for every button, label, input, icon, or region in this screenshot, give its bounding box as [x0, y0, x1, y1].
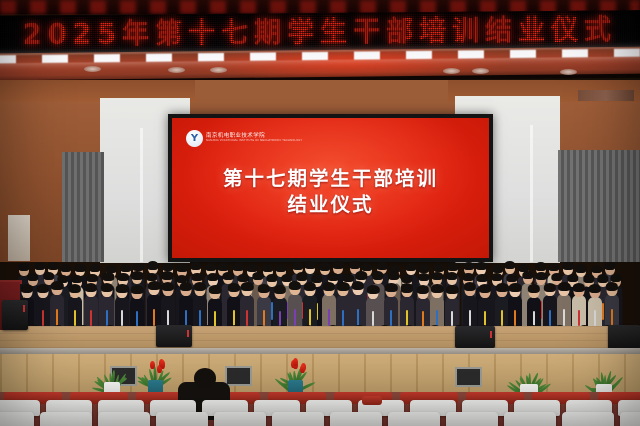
wall-vent-sign: [578, 90, 634, 101]
audience-chair[interactable]: [0, 412, 34, 426]
seated-audience-head: [194, 368, 216, 388]
person-hair: [417, 285, 429, 294]
person-hair: [543, 283, 555, 292]
person-hair: [60, 264, 71, 272]
audience-chair[interactable]: [156, 412, 208, 426]
led-banner-text: 2025年第十七期学生干部培训结业仪式: [23, 15, 617, 49]
person-hair: [551, 273, 562, 281]
person-hair: [558, 282, 570, 291]
lanyard-badge: [56, 309, 58, 326]
person-hair: [273, 285, 285, 294]
person-hair: [492, 264, 503, 272]
person-hair: [281, 274, 292, 282]
person-hair: [509, 283, 521, 292]
lanyard-badge: [263, 310, 265, 326]
person-hair: [349, 261, 360, 269]
stage-monitor-speaker: [608, 325, 640, 349]
person-hair: [146, 273, 157, 281]
person-hair: [75, 264, 86, 272]
screen-title-line2: 结业仪式: [172, 192, 489, 218]
lanyard-badge: [279, 311, 281, 327]
person-hair: [209, 285, 221, 294]
person-hair: [328, 273, 339, 281]
person-hair: [575, 264, 586, 272]
person-hair: [69, 284, 81, 293]
lanyard-badge: [451, 311, 453, 327]
person-hair: [147, 261, 158, 269]
audience-chair[interactable]: [620, 412, 640, 426]
audience-chair[interactable]: [562, 412, 614, 426]
person-hair: [305, 261, 316, 269]
person-hair: [604, 262, 615, 270]
lanyard-badge: [328, 309, 330, 326]
person-hair: [418, 264, 429, 272]
person-hair: [116, 284, 128, 293]
person-hair: [289, 281, 301, 290]
person-hair: [504, 261, 515, 269]
downlight-icon: [168, 67, 185, 73]
logo-institution-cn: 南京机电职业技术学院: [206, 134, 302, 140]
lanyard-badge: [422, 311, 424, 327]
person-hair: [190, 262, 201, 270]
person-hair: [86, 274, 97, 282]
audience-chair[interactable]: [504, 412, 556, 426]
person-hair: [34, 262, 45, 270]
person-hair: [205, 263, 216, 271]
person-hair: [232, 263, 243, 271]
person-hair: [132, 271, 143, 279]
red-flower: [160, 360, 165, 368]
person-hair: [475, 262, 486, 270]
person-hair: [491, 273, 502, 281]
lanyard-badge: [199, 310, 201, 326]
person-hair: [400, 283, 412, 292]
person-hair: [361, 263, 372, 271]
person-hair: [548, 263, 559, 271]
lanyard-badge: [602, 303, 604, 320]
lanyard-badge: [106, 310, 108, 326]
person-hair: [447, 262, 458, 270]
person-hair: [536, 272, 547, 280]
person-hair: [275, 264, 286, 272]
lanyard-badge: [136, 311, 138, 327]
person-hair: [418, 273, 429, 281]
person-hair: [431, 284, 443, 293]
person-hair: [431, 272, 442, 280]
person-hair: [405, 263, 416, 271]
person-hair: [51, 281, 63, 290]
institution-logo: Y 南京机电职业技术学院 NANJING VOCATIONAL INSTITUT…: [186, 130, 302, 147]
downlight-icon: [210, 67, 227, 73]
lanyard-badge: [372, 311, 374, 327]
person-hair: [177, 264, 188, 272]
person-hair: [89, 264, 100, 272]
lanyard-badge: [121, 310, 123, 326]
person-hair: [162, 282, 174, 291]
person-hair: [446, 272, 457, 280]
person-hair: [148, 281, 160, 290]
red-item-on-chair: [362, 396, 382, 405]
person-hair: [388, 271, 399, 279]
person-hair: [377, 262, 388, 270]
stage-front-vent: [225, 366, 252, 386]
red-flower: [293, 358, 298, 366]
person-hair: [372, 271, 383, 279]
person-hair: [131, 285, 143, 294]
stage-monitor-speaker: [2, 300, 28, 330]
lanyard-badge: [390, 310, 392, 326]
logo-mark-letter: Y: [191, 134, 198, 144]
person-hair: [522, 271, 533, 279]
downlight-icon: [84, 66, 101, 72]
person-hair: [352, 281, 364, 290]
person-hair: [103, 272, 114, 280]
person-hair: [463, 262, 474, 270]
audience-chair[interactable]: [388, 412, 440, 426]
person-hair: [85, 283, 97, 292]
person-hair: [27, 273, 38, 281]
logo-mark-icon: Y: [186, 130, 203, 147]
lanyard-badge: [436, 310, 438, 326]
person-hair: [194, 282, 206, 291]
stage-monitor-speaker: [156, 325, 192, 347]
lanyard-badge: [594, 310, 596, 326]
person-hair: [71, 275, 82, 283]
person-hair: [43, 272, 54, 280]
person-hair: [463, 273, 474, 281]
person-hair: [100, 283, 112, 292]
lanyard-badge: [549, 310, 551, 326]
lanyard-badge: [153, 309, 155, 326]
lanyard-badge: [90, 310, 92, 326]
monitor-led-icon: [490, 331, 492, 338]
audience-chair[interactable]: [330, 412, 382, 426]
red-flower: [150, 361, 155, 369]
person-hair: [238, 274, 249, 282]
person-hair: [133, 263, 144, 271]
person-hair: [401, 275, 412, 283]
audience-chair[interactable]: [40, 412, 92, 426]
auditorium-photo: 2025年第十七期学生干部培训结业仪式 Y 南京机电职业技术学院 NANJING…: [0, 0, 640, 426]
person-hair: [446, 285, 458, 294]
lanyard-badge: [309, 309, 311, 326]
person-hair: [356, 271, 367, 279]
person-hair: [597, 274, 608, 282]
person-hair: [292, 262, 303, 270]
lanyard-badge: [357, 309, 359, 326]
person-hair: [262, 264, 273, 272]
logo-wordmark: 南京机电职业技术学院 NANJING VOCATIONAL INSTITUTE …: [206, 134, 302, 143]
downlight-icon: [560, 69, 577, 75]
person-hair: [179, 282, 191, 291]
person-hair: [563, 262, 574, 270]
person-hair: [591, 265, 602, 273]
person-hair: [162, 271, 173, 279]
downlight-icon: [443, 68, 460, 74]
audience-chair[interactable]: [446, 412, 498, 426]
lanyard-badge: [514, 310, 516, 326]
person-hair: [252, 272, 263, 280]
lanyard-badge: [246, 310, 248, 326]
person-hair: [506, 274, 517, 282]
person-hair: [311, 274, 322, 282]
person-hair: [304, 282, 316, 291]
lanyard-badge: [74, 310, 76, 326]
person-hair: [342, 274, 353, 282]
person-hair: [535, 262, 546, 270]
screen-title-block: 第十七期学生干部培训 结业仪式: [172, 166, 489, 219]
person-hair: [296, 272, 307, 280]
lanyard-badge: [501, 310, 503, 326]
monitor-led-icon: [23, 305, 25, 312]
person-hair: [227, 283, 239, 292]
person-hair: [18, 263, 29, 271]
person-hair: [567, 274, 578, 282]
person-hair: [496, 283, 508, 292]
person-hair: [36, 284, 48, 293]
person-hair: [192, 273, 203, 281]
person-hair: [266, 274, 277, 282]
person-hair: [478, 284, 490, 293]
person-hair: [464, 282, 476, 291]
lanyard-badge: [578, 310, 580, 326]
person-hair: [385, 283, 397, 292]
person-hair: [573, 283, 585, 292]
audience-chair[interactable]: [98, 412, 150, 426]
person-hair: [332, 261, 343, 269]
person-hair: [118, 273, 129, 281]
person-hair: [588, 284, 600, 293]
audience-chair[interactable]: [214, 412, 266, 426]
red-flower: [300, 365, 305, 373]
person-hair: [241, 282, 253, 291]
monitor-led-icon: [187, 330, 189, 337]
person-hair: [583, 274, 594, 282]
person-hair: [21, 284, 33, 293]
person-hair: [257, 284, 269, 293]
lanyard-badge: [167, 310, 169, 326]
lanyard-badge: [294, 309, 296, 326]
person-hair: [367, 285, 379, 294]
logo-institution-en: NANJING VOCATIONAL INSTITUTE OF MECHATRO…: [206, 140, 302, 143]
person-hair: [337, 282, 349, 291]
lanyard-badge: [469, 310, 471, 326]
lanyard-badge: [42, 310, 44, 326]
person-hair: [47, 262, 58, 270]
person-hair: [606, 282, 618, 291]
lanyard-badge: [214, 311, 216, 327]
person-hair: [162, 263, 173, 271]
person-hair: [207, 273, 218, 281]
stage-monitor-speaker: [455, 326, 495, 348]
person-hair: [319, 262, 330, 270]
screen-title-line1: 第十七期学生干部培训: [172, 166, 489, 192]
lanyard-badge: [185, 310, 187, 326]
person-hair: [223, 272, 234, 280]
person-hair: [217, 263, 228, 271]
person-hair: [527, 284, 539, 293]
lanyard-badge: [233, 310, 235, 326]
lanyard-badge: [406, 310, 408, 326]
downlight-icon: [472, 68, 489, 74]
stage-front-vent: [455, 367, 482, 387]
audience-chair[interactable]: [272, 412, 324, 426]
lanyard-badge: [611, 309, 613, 326]
group-photo-crowd: [0, 228, 640, 338]
person-hair: [477, 274, 488, 282]
lanyard-badge: [342, 310, 344, 326]
person-hair: [322, 282, 334, 291]
lanyard-badge: [563, 309, 565, 326]
person-hair: [120, 264, 131, 272]
